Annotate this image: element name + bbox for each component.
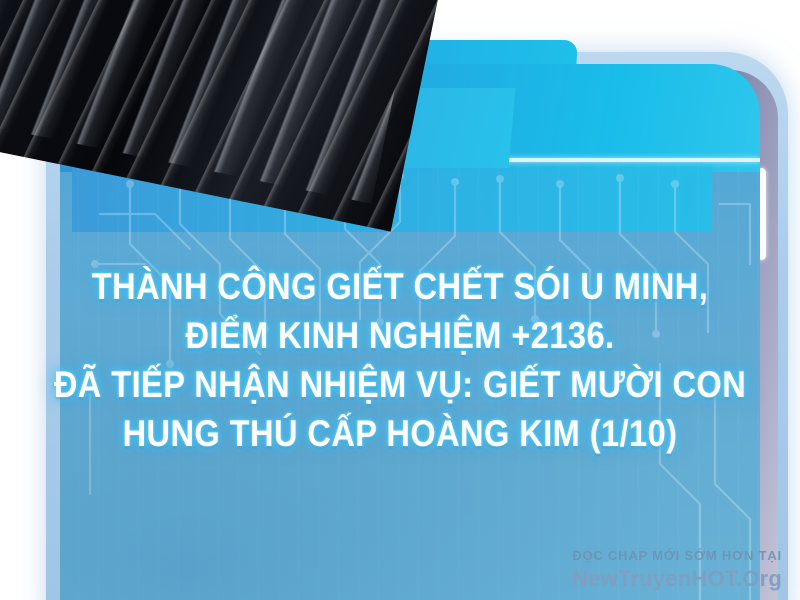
comic-panel-scene: THÀNH CÔNG GIẾT CHẾT SÓI U MINH, ĐIỂM KI… [0,0,800,600]
